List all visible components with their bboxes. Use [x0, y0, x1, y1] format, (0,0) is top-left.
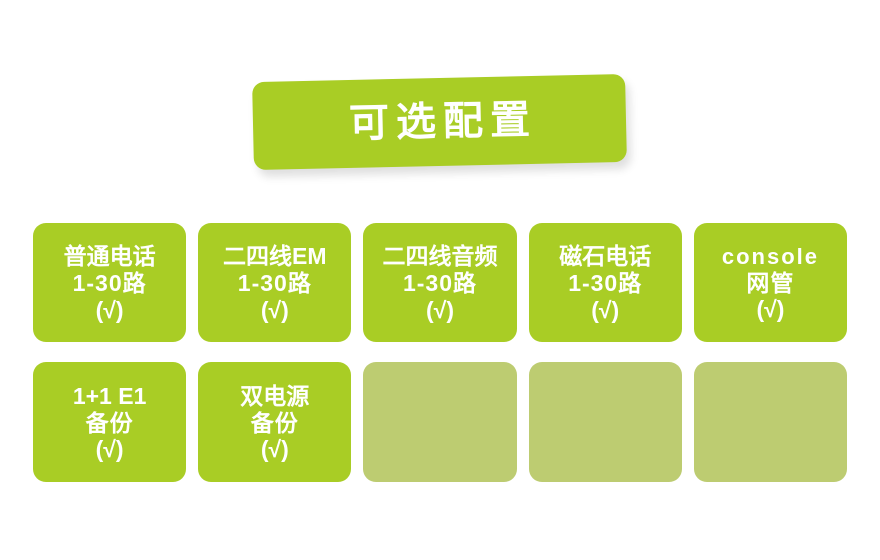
option-card-check-mark: (√) [756, 296, 784, 323]
option-card-check-mark: (√) [261, 297, 289, 324]
card-row-1: 普通电话 1-30路 (√) 二四线EM 1-30路 (√) 二四线音频 1-3… [33, 223, 847, 342]
option-card-line-1: 二四线EM [223, 243, 327, 270]
option-card-line-2: 1-30路 [238, 270, 312, 297]
banner: 可选配置 [253, 78, 626, 166]
option-card-line-1: 双电源 [240, 383, 309, 410]
option-card-line-2: 备份 [251, 410, 299, 437]
option-card-line-2: 1-30路 [73, 270, 147, 297]
option-card[interactable]: 二四线音频 1-30路 (√) [363, 223, 516, 342]
option-card-line-1: 普通电话 [64, 243, 156, 270]
option-card-line-2: 1-30路 [568, 270, 642, 297]
option-card-placeholder [363, 362, 516, 482]
option-card[interactable]: 普通电话 1-30路 (√) [33, 223, 186, 342]
option-card-placeholder [694, 362, 847, 482]
option-card-check-mark: (√) [96, 436, 124, 463]
option-card[interactable]: 双电源 备份 (√) [198, 362, 351, 482]
option-card[interactable]: 磁石电话 1-30路 (√) [529, 223, 682, 342]
card-row-2: 1+1 E1 备份 (√) 双电源 备份 (√) [33, 362, 847, 482]
option-card-line-1: console [722, 244, 819, 270]
option-card-grid: 普通电话 1-30路 (√) 二四线EM 1-30路 (√) 二四线音频 1-3… [33, 223, 847, 482]
option-card-line-1: 二四线音频 [383, 243, 498, 270]
option-card-line-2: 网管 [746, 270, 794, 297]
option-card-check-mark: (√) [591, 297, 619, 324]
option-card[interactable]: 1+1 E1 备份 (√) [33, 362, 186, 482]
option-card-line-1: 1+1 E1 [73, 383, 147, 410]
banner-title: 可选配置 [342, 100, 538, 144]
option-card-line-1: 磁石电话 [559, 243, 651, 270]
option-card-check-mark: (√) [261, 436, 289, 463]
option-card[interactable]: console 网管 (√) [694, 223, 847, 342]
banner-plaque: 可选配置 [252, 74, 627, 170]
page-root: 可选配置 普通电话 1-30路 (√) 二四线EM 1-30路 (√) 二四线音… [0, 0, 880, 560]
option-card-check-mark: (√) [426, 297, 454, 324]
option-card-check-mark: (√) [96, 297, 124, 324]
option-card-placeholder [529, 362, 682, 482]
option-card-line-2: 1-30路 [403, 270, 477, 297]
option-card-line-2: 备份 [86, 410, 134, 437]
option-card[interactable]: 二四线EM 1-30路 (√) [198, 223, 351, 342]
